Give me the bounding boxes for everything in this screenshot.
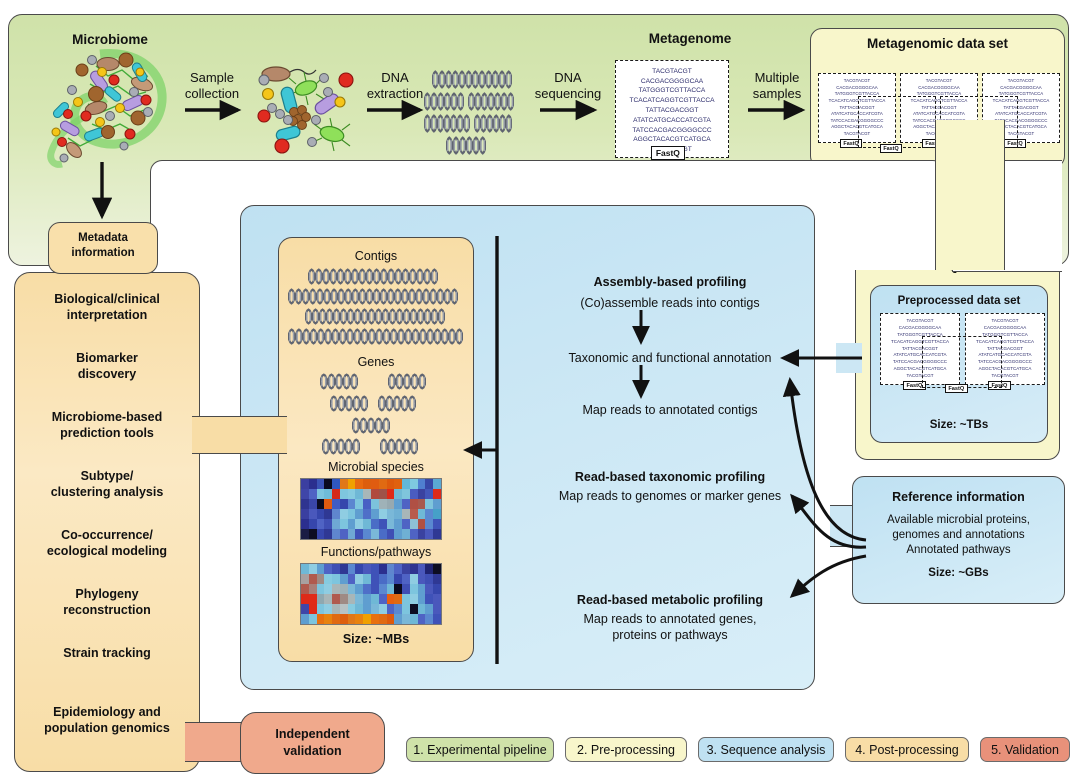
functions-heatmap-cell — [317, 614, 325, 624]
sequence-line-1: CACGACGGGGCAA — [918, 85, 959, 92]
functions-heatmap-cell — [418, 594, 426, 604]
step-label-multiple-samples-1: Multiple — [737, 70, 817, 86]
species-heatmap-cell — [371, 479, 379, 489]
species-heatmap-cell — [355, 479, 363, 489]
functions-heatmap-cell — [340, 574, 348, 584]
sequence-line-1: CACGACGGGGCAA — [899, 325, 942, 332]
functions-heatmap-cell — [433, 594, 441, 604]
functions-heatmap-cell — [348, 564, 356, 574]
species-heatmap-cell — [301, 519, 309, 529]
gene-helix-4 — [352, 417, 390, 439]
species-heatmap-cell — [309, 529, 317, 539]
microbial-species-label: Microbial species — [278, 460, 474, 475]
sequence-line-1: CACGACGGGGCAA — [1000, 85, 1041, 92]
species-heatmap-cell — [387, 479, 395, 489]
species-heatmap-cell — [394, 489, 402, 499]
contigs-label: Contigs — [278, 249, 474, 264]
functions-heatmap-cell — [402, 594, 410, 604]
functions-heatmap-cell — [402, 564, 410, 574]
diagram-canvas: Metagenomic data set QC Preprocessed dat… — [0, 0, 1077, 784]
functions-heatmap-cell — [379, 594, 387, 604]
species-heatmap-cell — [433, 509, 441, 519]
species-heatmap-cell — [433, 519, 441, 529]
species-heatmap-cell — [394, 509, 402, 519]
species-heatmap-cell — [363, 489, 371, 499]
sequence-line-3: TCACATCAGGTCGTTACCA — [629, 96, 714, 106]
preprocessed-seq-card-back-fastq-tag: FastQ — [945, 384, 968, 393]
species-heatmap-cell — [363, 519, 371, 529]
species-heatmap-cell — [348, 499, 356, 509]
species-heatmap-cell — [410, 519, 418, 529]
species-heatmap-cell — [340, 499, 348, 509]
species-heatmap-cell — [371, 519, 379, 529]
species-heatmap-cell — [317, 489, 325, 499]
reference-line-2: genomes and annotations — [852, 528, 1065, 542]
species-heatmap-cell — [410, 529, 418, 539]
species-heatmap-cell — [418, 479, 426, 489]
functions-heatmap-cell — [363, 564, 371, 574]
species-heatmap-cell — [402, 479, 410, 489]
functions-heatmap-cell — [340, 614, 348, 624]
species-heatmap-cell — [425, 499, 433, 509]
species-heatmap-cell — [332, 529, 340, 539]
species-heatmap-cell — [301, 489, 309, 499]
sequence-line-0: TACGTACGT — [906, 318, 933, 325]
species-heatmap-cell — [402, 529, 410, 539]
functions-heatmap-cell — [387, 564, 395, 574]
species-heatmap-cell — [402, 499, 410, 509]
species-heatmap-cell — [402, 509, 410, 519]
taxonomic-step-1: Map reads to genomes or marker genes — [520, 489, 820, 504]
species-heatmap-cell — [371, 509, 379, 519]
step-label-sample-collection-1: Sample — [172, 70, 252, 86]
functions-heatmap-cell — [301, 594, 309, 604]
species-heatmap-cell — [332, 499, 340, 509]
functions-heatmap-cell — [363, 614, 371, 624]
functions-pathways-heatmap — [300, 563, 442, 625]
species-heatmap-cell — [324, 489, 332, 499]
species-heatmap-cell — [348, 529, 356, 539]
assembly-step-1: (Co)assemble reads into contigs — [520, 296, 820, 311]
species-heatmap-cell — [387, 489, 395, 499]
functions-heatmap-cell — [340, 604, 348, 614]
taxonomic-profiling-title: Read-based taxonomic profiling — [520, 470, 820, 485]
species-heatmap-cell — [418, 499, 426, 509]
functions-heatmap-cell — [332, 614, 340, 624]
functions-heatmap-cell — [348, 584, 356, 594]
functions-heatmap-cell — [371, 584, 379, 594]
post-processing-item-1-line2: discovery — [18, 367, 196, 382]
species-heatmap-cell — [340, 479, 348, 489]
functions-heatmap-cell — [348, 614, 356, 624]
post-processing-item-1[interactable]: Biomarker — [18, 351, 196, 366]
species-heatmap-cell — [348, 519, 356, 529]
species-heatmap-cell — [418, 509, 426, 519]
species-heatmap-cell — [425, 509, 433, 519]
legend-item-5[interactable]: 5. Validation — [980, 737, 1070, 762]
functions-heatmap-cell — [348, 604, 356, 614]
functions-heatmap-cell — [309, 584, 317, 594]
functions-heatmap-cell — [324, 564, 332, 574]
functions-heatmap-cell — [379, 614, 387, 624]
functions-heatmap-cell — [332, 604, 340, 614]
functions-heatmap-cell — [348, 594, 356, 604]
sequence-line-0: TACGTACGT — [926, 78, 952, 85]
metagenome-label: Metagenome — [600, 31, 780, 47]
functions-heatmap-cell — [317, 574, 325, 584]
dna-helix-4 — [424, 114, 470, 138]
functions-heatmap-cell — [433, 604, 441, 614]
species-heatmap-cell — [348, 479, 356, 489]
gene-helix-3 — [378, 395, 416, 417]
species-heatmap-cell — [425, 529, 433, 539]
sequence-line-6: TATCCACGACGGGGCCC — [632, 126, 711, 136]
functions-heatmap-cell — [324, 574, 332, 584]
species-heatmap-cell — [387, 499, 395, 509]
postprocessing-connector-arm — [192, 416, 287, 454]
sequence-line-1: CACGACGGGGCAA — [641, 77, 703, 87]
functions-heatmap-cell — [410, 614, 418, 624]
species-heatmap-cell — [355, 499, 363, 509]
step-label-dna-extraction-1: DNA — [355, 70, 435, 86]
step-label-sample-collection-2: collection — [172, 86, 252, 102]
post-processing-item-4-line2: ecological modeling — [18, 544, 196, 559]
species-heatmap-cell — [402, 519, 410, 529]
functions-heatmap-cell — [363, 574, 371, 584]
contig-helix-0 — [308, 268, 438, 290]
post-processing-item-2[interactable]: Microbiome-based — [18, 410, 196, 425]
functions-heatmap-cell — [418, 584, 426, 594]
functions-heatmap-cell — [425, 584, 433, 594]
sequence-line-5: ATATCATGCACCATCGTA — [633, 116, 711, 126]
species-heatmap-cell — [324, 499, 332, 509]
metabolic-profiling-title: Read-based metabolic profiling — [520, 593, 820, 608]
functions-heatmap-cell — [387, 604, 395, 614]
functions-heatmap-cell — [387, 584, 395, 594]
functions-heatmap-cell — [394, 584, 402, 594]
contig-helix-3 — [288, 328, 463, 350]
species-heatmap-cell — [394, 529, 402, 539]
species-heatmap-cell — [363, 529, 371, 539]
functions-heatmap-cell — [309, 574, 317, 584]
reference-line-3: Annotated pathways — [852, 543, 1065, 557]
functions-heatmap-cell — [363, 594, 371, 604]
species-heatmap-cell — [355, 489, 363, 499]
species-heatmap-cell — [301, 509, 309, 519]
functions-heatmap-cell — [363, 604, 371, 614]
functions-heatmap-cell — [363, 584, 371, 594]
species-heatmap-cell — [418, 529, 426, 539]
functions-heatmap-cell — [425, 604, 433, 614]
functions-pathways-label: Functions/pathways — [278, 545, 474, 560]
reference-line-1: Available microbial proteins, — [852, 513, 1065, 527]
functions-heatmap-cell — [324, 594, 332, 604]
metagenomic-dataset-title: Metagenomic data set — [810, 36, 1065, 52]
species-heatmap-cell — [317, 529, 325, 539]
species-heatmap-cell — [387, 519, 395, 529]
functions-heatmap-cell — [324, 614, 332, 624]
functions-heatmap-cell — [301, 574, 309, 584]
functions-heatmap-cell — [371, 614, 379, 624]
functions-heatmap-cell — [433, 584, 441, 594]
species-heatmap-cell — [301, 499, 309, 509]
post-processing-item-5-line2: reconstruction — [18, 603, 196, 618]
post-processing-panel — [14, 272, 200, 772]
functions-heatmap-cell — [324, 604, 332, 614]
species-heatmap-cell — [355, 519, 363, 529]
metagenome-sequence-card: TACGTACGTCACGACGGGGCAATATGGGTCGTTACCATCA… — [615, 60, 729, 158]
post-processing-item-2-line2: prediction tools — [18, 426, 196, 441]
functions-heatmap-cell — [418, 564, 426, 574]
species-heatmap-cell — [348, 509, 356, 519]
functions-heatmap-cell — [355, 594, 363, 604]
metagenomic-seq-card-back-0-fastq-tag: FastQ — [880, 144, 902, 153]
post-processing-item-3[interactable]: Subtype/ — [18, 469, 196, 484]
validation-line-1: Independent — [240, 727, 385, 742]
post-processing-item-5[interactable]: Phylogeny — [18, 587, 196, 602]
step-label-dna-extraction-2: extraction — [355, 86, 435, 102]
species-heatmap-cell — [410, 489, 418, 499]
functions-heatmap-cell — [340, 564, 348, 574]
functions-heatmap-cell — [425, 574, 433, 584]
assembly-step-2: Taxonomic and functional annotation — [520, 351, 820, 366]
functions-heatmap-cell — [332, 584, 340, 594]
functions-heatmap-cell — [410, 604, 418, 614]
species-heatmap-cell — [379, 519, 387, 529]
species-heatmap-cell — [410, 499, 418, 509]
functions-heatmap-cell — [394, 594, 402, 604]
gene-helix-6 — [380, 438, 418, 460]
species-heatmap-cell — [379, 489, 387, 499]
species-heatmap-cell — [363, 499, 371, 509]
species-heatmap-cell — [340, 519, 348, 529]
functions-heatmap-cell — [425, 594, 433, 604]
species-heatmap-cell — [309, 489, 317, 499]
functions-heatmap-cell — [348, 574, 356, 584]
metadata-line-1: Metadata — [48, 231, 158, 245]
species-heatmap-cell — [410, 479, 418, 489]
species-heatmap-cell — [332, 479, 340, 489]
species-heatmap-cell — [309, 479, 317, 489]
functions-heatmap-cell — [425, 564, 433, 574]
functions-heatmap-cell — [433, 614, 441, 624]
sequence-line-0: TACGTACGT — [652, 67, 692, 77]
species-heatmap-cell — [317, 479, 325, 489]
species-heatmap-cell — [317, 509, 325, 519]
genes-label: Genes — [278, 355, 474, 370]
dna-helix-6 — [446, 136, 486, 160]
functions-heatmap-cell — [309, 564, 317, 574]
species-heatmap-cell — [309, 519, 317, 529]
step-label-multiple-samples-2: samples — [737, 86, 817, 102]
functions-heatmap-cell — [433, 574, 441, 584]
post-processing-item-0-line2: interpretation — [18, 308, 196, 323]
species-heatmap-cell — [324, 519, 332, 529]
species-heatmap-cell — [387, 509, 395, 519]
functions-heatmap-cell — [355, 614, 363, 624]
functions-heatmap-cell — [402, 614, 410, 624]
functions-heatmap-cell — [340, 584, 348, 594]
functions-heatmap-cell — [394, 604, 402, 614]
species-heatmap-cell — [340, 509, 348, 519]
functions-heatmap-cell — [410, 594, 418, 604]
metagenome-sequence-card-fastq-tag: FastQ — [651, 146, 685, 160]
assembly-step-3: Map reads to annotated contigs — [520, 403, 820, 418]
functions-heatmap-cell — [355, 584, 363, 594]
sequence-line-4: TATTACGACGGT — [646, 106, 699, 116]
sequence-line-0: TACGTACGT — [991, 318, 1018, 325]
functions-heatmap-cell — [371, 604, 379, 614]
species-heatmap-cell — [371, 499, 379, 509]
species-heatmap-cell — [433, 529, 441, 539]
species-heatmap-cell — [394, 479, 402, 489]
functions-heatmap-cell — [340, 594, 348, 604]
sequence-line-7: AGGCTACACGTCATGCA — [633, 135, 710, 145]
dna-helix-0 — [432, 70, 472, 94]
dna-helix-1 — [472, 70, 512, 94]
functions-heatmap-cell — [355, 564, 363, 574]
post-processing-item-7-line2: population genomics — [18, 721, 196, 736]
functions-heatmap-cell — [317, 604, 325, 614]
legend-item-3[interactable]: 3. Sequence analysis — [698, 737, 834, 762]
species-heatmap-cell — [301, 529, 309, 539]
assembly-profiling-title: Assembly-based profiling — [520, 275, 820, 290]
species-heatmap-cell — [332, 519, 340, 529]
species-heatmap-cell — [394, 519, 402, 529]
functions-heatmap-cell — [410, 584, 418, 594]
preprocessed-connector-arm — [836, 343, 862, 373]
metabolic-step-1: Map reads to annotated genes, — [520, 612, 820, 627]
functions-heatmap-cell — [379, 604, 387, 614]
dna-helix-5 — [474, 114, 512, 138]
functions-heatmap-cell — [394, 614, 402, 624]
metabolic-step-2: proteins or pathways — [520, 628, 820, 643]
functions-heatmap-cell — [332, 574, 340, 584]
functions-heatmap-cell — [324, 584, 332, 594]
post-processing-item-4[interactable]: Co-occurrence/ — [18, 528, 196, 543]
functions-heatmap-cell — [402, 584, 410, 594]
species-heatmap-cell — [402, 489, 410, 499]
preprocessed-dataset-title: Preprocessed data set — [870, 294, 1048, 308]
functions-heatmap-cell — [332, 594, 340, 604]
legend-item-1[interactable]: 1. Experimental pipeline — [406, 737, 554, 762]
functions-heatmap-cell — [402, 574, 410, 584]
species-heatmap-cell — [317, 499, 325, 509]
species-heatmap-cell — [425, 479, 433, 489]
functions-heatmap-cell — [410, 574, 418, 584]
functions-heatmap-cell — [418, 604, 426, 614]
gene-helix-0 — [320, 373, 358, 395]
functions-heatmap-cell — [301, 614, 309, 624]
contig-helix-1 — [288, 288, 458, 310]
functions-heatmap-cell — [387, 594, 395, 604]
functions-heatmap-cell — [394, 564, 402, 574]
gene-helix-5 — [322, 438, 360, 460]
sequence-line-1: CACGACGGGGCAA — [984, 325, 1027, 332]
species-heatmap-cell — [309, 509, 317, 519]
species-heatmap-cell — [324, 529, 332, 539]
species-heatmap-cell — [324, 479, 332, 489]
post-processing-item-6[interactable]: Strain tracking — [18, 646, 196, 661]
species-heatmap-cell — [433, 479, 441, 489]
functions-heatmap-cell — [418, 614, 426, 624]
sequence-line-1: CACGACGGGGCAA — [836, 85, 877, 92]
reference-size-label: Size: ~GBs — [852, 566, 1065, 580]
functions-heatmap-cell — [387, 614, 395, 624]
species-heatmap-cell — [379, 499, 387, 509]
functions-heatmap-cell — [317, 594, 325, 604]
functions-heatmap-cell — [379, 584, 387, 594]
species-heatmap-cell — [425, 489, 433, 499]
functions-heatmap-cell — [309, 604, 317, 614]
species-heatmap-cell — [418, 489, 426, 499]
functions-heatmap-cell — [387, 574, 395, 584]
species-heatmap-cell — [371, 529, 379, 539]
step-label-dna-sequencing-1: DNA — [528, 70, 608, 86]
species-heatmap-cell — [340, 489, 348, 499]
species-heatmap-cell — [363, 479, 371, 489]
species-heatmap-cell — [332, 509, 340, 519]
species-heatmap-cell — [387, 529, 395, 539]
species-heatmap-cell — [418, 519, 426, 529]
preprocessed-seq-card-back — [922, 336, 1002, 388]
species-heatmap-cell — [301, 479, 309, 489]
functions-heatmap-cell — [418, 574, 426, 584]
validation-line-2: validation — [240, 744, 385, 759]
species-heatmap-cell — [371, 489, 379, 499]
functions-heatmap-cell — [301, 564, 309, 574]
functions-heatmap-cell — [317, 584, 325, 594]
species-heatmap-cell — [379, 479, 387, 489]
species-heatmap-cell — [348, 489, 356, 499]
species-heatmap-cell — [410, 509, 418, 519]
post-processing-item-7[interactable]: Epidemiology and — [18, 705, 196, 720]
functions-heatmap-cell — [433, 564, 441, 574]
functions-heatmap-cell — [309, 614, 317, 624]
yellow-connector-bridge — [935, 120, 1005, 270]
legend-item-4[interactable]: 4. Post-processing — [845, 737, 969, 762]
step-label-dna-sequencing-2: sequencing — [528, 86, 608, 102]
metadata-line-2: information — [48, 246, 158, 260]
sequence-line-0: TACGTACGT — [1008, 78, 1034, 85]
sequence-line-0: TACGTACGT — [844, 78, 870, 85]
species-heatmap-cell — [324, 509, 332, 519]
functions-heatmap-cell — [371, 574, 379, 584]
species-heatmap-cell — [332, 489, 340, 499]
functions-heatmap-cell — [355, 604, 363, 614]
species-heatmap-cell — [425, 519, 433, 529]
microbiome-illustration — [38, 46, 190, 171]
bacteria-illustration — [250, 58, 360, 158]
post-processing-item-0[interactable]: Biological/clinical — [18, 292, 196, 307]
functions-heatmap-cell — [332, 564, 340, 574]
species-heatmap-cell — [355, 529, 363, 539]
independent-validation-box — [240, 712, 385, 774]
functions-heatmap-cell — [317, 564, 325, 574]
species-heatmap-cell — [379, 529, 387, 539]
species-heatmap-cell — [379, 509, 387, 519]
post-processing-item-3-line2: clustering analysis — [18, 485, 196, 500]
functions-heatmap-cell — [355, 574, 363, 584]
species-heatmap-cell — [363, 509, 371, 519]
sequence-line-2: TATGGGTCGTTACCA — [639, 86, 706, 96]
species-heatmap-cell — [394, 499, 402, 509]
functions-heatmap-cell — [402, 604, 410, 614]
legend-item-2[interactable]: 2. Pre-processing — [565, 737, 687, 762]
functions-heatmap-cell — [301, 584, 309, 594]
functions-heatmap-cell — [410, 564, 418, 574]
species-heatmap-cell — [355, 509, 363, 519]
